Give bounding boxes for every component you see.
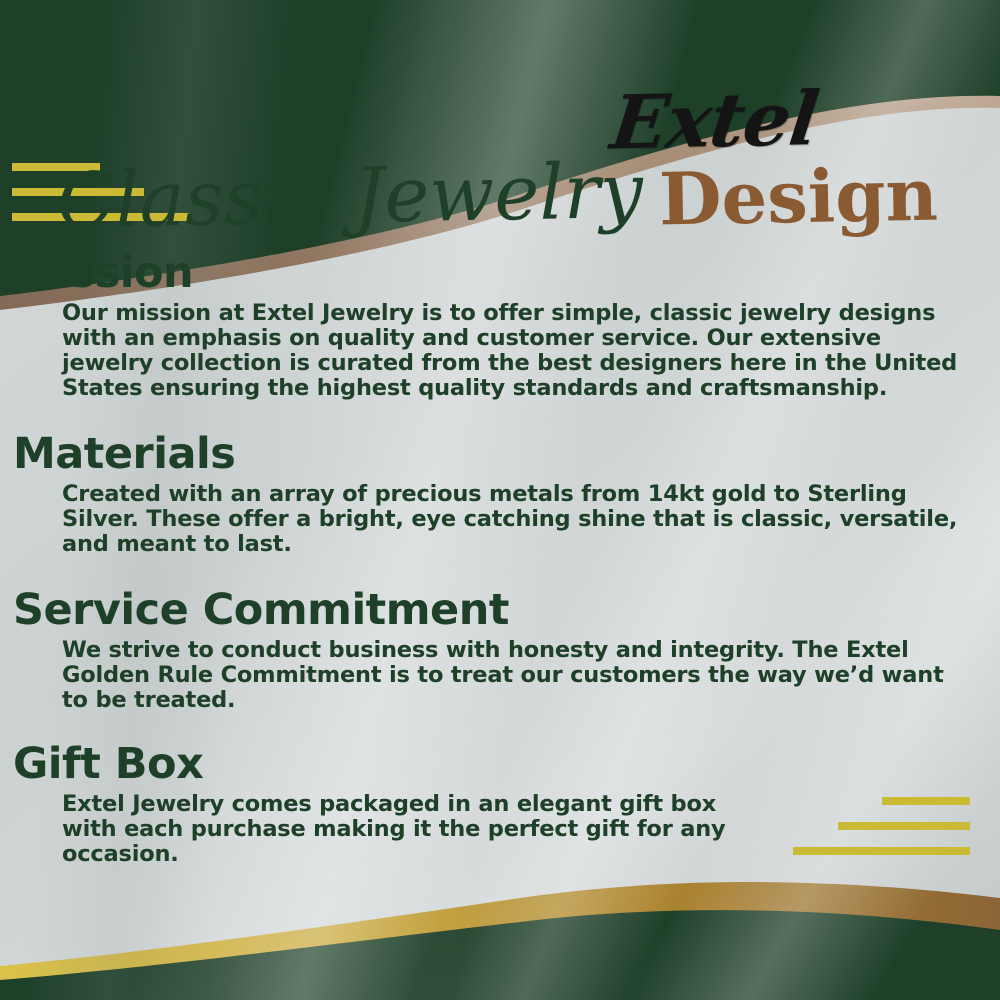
title-design: Design	[659, 159, 939, 236]
section-heading-mission: Mission	[13, 252, 1000, 295]
section-service-commitment: Service Commitment We strive to conduct …	[0, 589, 1000, 713]
section-body-materials: Created with an array of precious metals…	[62, 482, 970, 557]
section-body-mission: Our mission at Extel Jewelry is to offer…	[62, 301, 970, 401]
section-mission: Mission Our mission at Extel Jewelry is …	[0, 252, 1000, 401]
poster-title: Classic Jewelry Design	[0, 158, 1000, 258]
poster-canvas: Extel Classic Jewelry Design Mission Our…	[0, 0, 1000, 1000]
section-heading-gift-box: Gift Box	[13, 743, 1000, 786]
section-heading-materials: Materials	[13, 433, 1000, 476]
section-heading-service-commitment: Service Commitment	[13, 589, 1000, 632]
section-gift-box: Gift Box Extel Jewelry comes packaged in…	[0, 743, 1000, 867]
section-body-service-commitment: We strive to conduct business with hones…	[62, 638, 970, 713]
content-sections: Mission Our mission at Extel Jewelry is …	[0, 252, 1000, 867]
section-body-gift-box: Extel Jewelry comes packaged in an elega…	[62, 792, 760, 867]
title-classic-jewelry: Classic Jewelry	[57, 153, 644, 239]
section-materials: Materials Created with an array of preci…	[0, 433, 1000, 557]
